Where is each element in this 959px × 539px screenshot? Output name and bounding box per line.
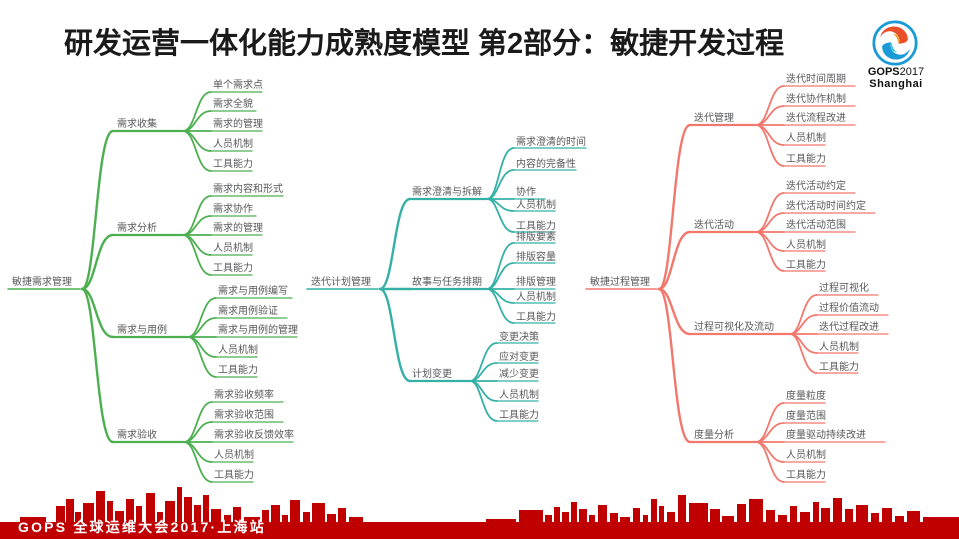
mindmap-leaf[interactable]: 迭代流程改进	[786, 113, 846, 124]
mindmap-leaf[interactable]: 需求验收反馈效率	[214, 430, 294, 441]
mindmap-root-iteration-plan[interactable]: 迭代计划管理	[311, 277, 371, 288]
mindmap-leaf[interactable]: 人员机制	[213, 139, 253, 150]
mindmap-branch-requirement-clarification[interactable]: 需求澄清与拆解	[412, 187, 482, 198]
mindmap-leaf[interactable]: 过程价值流动	[819, 303, 879, 314]
mindmap-leaf[interactable]: 需求与用例的管理	[218, 325, 298, 336]
mindmap-leaf[interactable]: 工具能力	[819, 362, 859, 373]
mindmap-leaf[interactable]: 迭代时间周期	[786, 74, 846, 85]
mindmap-leaf[interactable]: 人员机制	[786, 240, 826, 251]
mindmap-leaf[interactable]: 人员机制	[499, 390, 539, 401]
mindmap-root-agile-process[interactable]: 敏捷过程管理	[590, 277, 650, 288]
mindmap-root-agile-requirements[interactable]: 敏捷需求管理	[12, 277, 72, 288]
mindmap-branch-plan-change[interactable]: 计划变更	[412, 369, 452, 380]
mindmap-leaf[interactable]: 过程可视化	[819, 283, 869, 294]
mindmap-leaf[interactable]: 迭代协作机制	[786, 94, 846, 105]
mindmap-leaf[interactable]: 需求验收范围	[214, 410, 274, 421]
mindmap-branch-iteration-management[interactable]: 迭代管理	[694, 113, 734, 124]
mindmap-leaf[interactable]: 人员机制	[516, 200, 556, 211]
mindmap-leaf[interactable]: 排版管理	[516, 277, 556, 288]
mindmap-leaf[interactable]: 需求内容和形式	[213, 184, 283, 195]
mindmap-leaf[interactable]: 人员机制	[213, 243, 253, 254]
mindmap-leaf[interactable]: 排版要素	[516, 232, 556, 243]
mindmap-leaf[interactable]: 迭代过程改进	[819, 322, 879, 333]
mindmap-branch-metrics-analysis[interactable]: 度量分析	[694, 430, 734, 441]
mindmap-leaf[interactable]: 需求验收频率	[214, 390, 274, 401]
mindmap-branch-requirement-usecase[interactable]: 需求与用例	[117, 325, 167, 336]
mindmap-leaf[interactable]: 内容的完备性	[516, 159, 576, 170]
mindmap-leaf[interactable]: 需求澄清的时间	[516, 137, 586, 148]
mindmap-leaf[interactable]: 人员机制	[214, 450, 254, 461]
mindmap-leaf[interactable]: 工具能力	[213, 263, 253, 274]
mindmap-leaf[interactable]: 人员机制	[786, 450, 826, 461]
mindmap-leaf[interactable]: 度量范围	[786, 411, 826, 422]
mindmap-leaf[interactable]: 需求用例验证	[218, 306, 278, 317]
mindmap-leaf[interactable]: 需求的管理	[213, 119, 263, 130]
mindmap-leaf[interactable]: 需求协作	[213, 204, 253, 215]
mindmap-leaf[interactable]: 人员机制	[218, 345, 258, 356]
mindmap-branch-requirement-analysis[interactable]: 需求分析	[117, 223, 157, 234]
mindmap-leaf[interactable]: 工具能力	[786, 260, 826, 271]
mindmap-leaf[interactable]: 工具能力	[516, 221, 556, 232]
mindmap-branch-iteration-activity[interactable]: 迭代活动	[694, 220, 734, 231]
mindmap-leaf[interactable]: 需求全貌	[213, 99, 253, 110]
mindmap-branch-requirement-acceptance[interactable]: 需求验收	[117, 430, 157, 441]
mindmap-branch-requirement-collection[interactable]: 需求收集	[117, 119, 157, 130]
mindmap-leaf[interactable]: 工具能力	[516, 312, 556, 323]
mindmap-leaf[interactable]: 工具能力	[218, 365, 258, 376]
mindmap-leaf[interactable]: 工具能力	[499, 410, 539, 421]
mindmap-leaf[interactable]: 工具能力	[786, 154, 826, 165]
mindmap-branch-process-visualization[interactable]: 过程可视化及流动	[694, 322, 774, 333]
mindmap-leaf[interactable]: 迭代活动时间约定	[786, 201, 866, 212]
mindmap-leaf[interactable]: 排版容量	[516, 252, 556, 263]
mindmap-leaf[interactable]: 变更决策	[499, 332, 539, 343]
mindmap-leaf[interactable]: 工具能力	[213, 159, 253, 170]
slide-canvas: 研发运营一体化能力成熟度模型 第2部分：敏捷开发过程 GOPS2017 Shan…	[0, 0, 959, 539]
mindmap-leaf[interactable]: 度量粒度	[786, 391, 826, 402]
mindmap-leaf[interactable]: 人员机制	[819, 342, 859, 353]
mindmap-leaf[interactable]: 单个需求点	[213, 80, 263, 91]
mindmap-leaf[interactable]: 人员机制	[786, 133, 826, 144]
mindmap-leaf[interactable]: 应对变更	[499, 352, 539, 363]
footer-text: GOPS 全球运维大会2017·上海站	[18, 517, 266, 537]
mindmap-leaf[interactable]: 迭代活动约定	[786, 181, 846, 192]
mindmap-leaf[interactable]: 减少变更	[499, 369, 539, 380]
mindmap-branch-story-task-schedule[interactable]: 故事与任务排期	[412, 277, 482, 288]
mindmap-leaf[interactable]: 需求的管理	[213, 223, 263, 234]
mindmap-leaf[interactable]: 协作	[516, 187, 536, 198]
mindmap-leaf[interactable]: 需求与用例编写	[218, 286, 288, 297]
mindmap-leaf[interactable]: 迭代活动范围	[786, 220, 846, 231]
mindmap-leaf[interactable]: 度量驱动持续改进	[786, 430, 866, 441]
mindmap-leaf[interactable]: 人员机制	[516, 292, 556, 303]
